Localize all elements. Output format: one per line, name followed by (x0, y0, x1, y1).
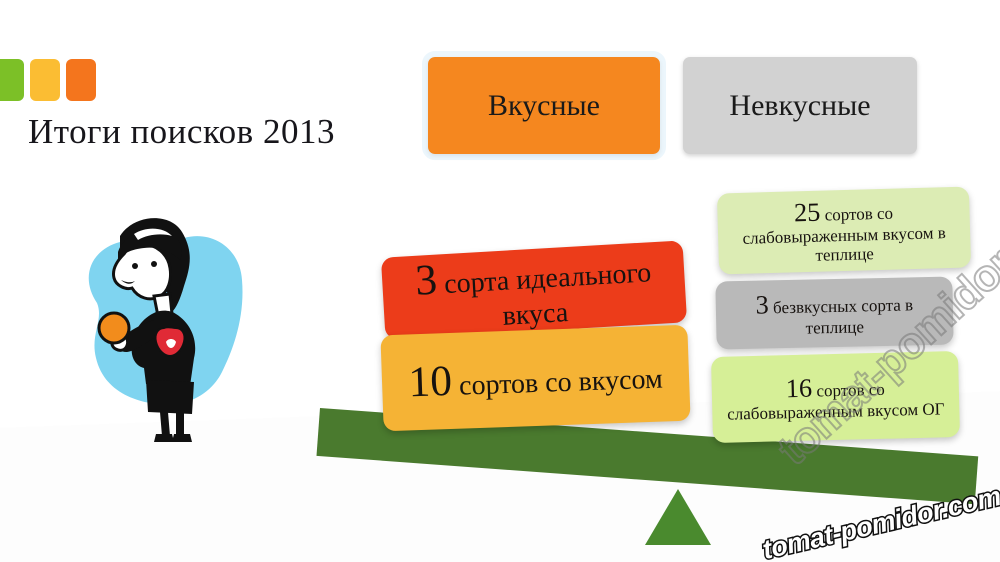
orange-fruit (99, 313, 129, 343)
woman-holding-orange-illustration (72, 208, 262, 448)
card-with-taste-text: сортов со вкусом (452, 363, 664, 401)
card-tasteless-greenhouse-text: безвкусных сорта в теплице (769, 295, 914, 338)
card-ideal-taste[interactable]: 3 сорта идеального вкуса (381, 240, 687, 339)
card-weak-taste-open-ground-text: сортов со слабовыраженным вкусом ОГ (727, 380, 945, 424)
legs-shape (160, 412, 184, 436)
eye-right (151, 261, 157, 267)
card-weak-taste-open-ground[interactable]: 16 сортов со слабовыраженным вкусом ОГ (711, 351, 960, 443)
card-weak-taste-greenhouse-text: сортов со слабовыраженным вкусом в тепли… (742, 203, 946, 265)
logo-square-yellow (30, 59, 60, 101)
tab-tasty[interactable]: Вкусные (428, 57, 660, 154)
card-ideal-taste-number: 3 (414, 256, 438, 305)
card-tasteless-greenhouse[interactable]: 3 безвкусных сорта в теплице (715, 277, 953, 350)
tab-untasty-label: Невкусные (729, 89, 870, 123)
slide-canvas: Итоги поисков 2013 Вкусные Невкусные 3 с… (0, 0, 1000, 562)
page-title: Итоги поисков 2013 (28, 112, 335, 152)
logo-squares (0, 59, 96, 101)
card-with-taste-number: 10 (408, 357, 453, 406)
card-tasteless-greenhouse-number: 3 (755, 290, 769, 319)
card-weak-taste-greenhouse-number: 25 (794, 197, 821, 227)
logo-square-green (0, 59, 24, 101)
card-weak-taste-open-ground-number: 16 (785, 373, 812, 403)
tab-tasty-label: Вкусные (488, 89, 600, 123)
card-with-taste[interactable]: 10 сортов со вкусом (380, 325, 690, 432)
shoes-shape (154, 434, 192, 442)
tab-untasty[interactable]: Невкусные (683, 57, 917, 154)
skirt-shape (146, 380, 194, 414)
balance-fulcrum-triangle (645, 489, 711, 545)
card-ideal-taste-text: сорта идеального вкуса (436, 257, 652, 331)
eye-left (132, 263, 138, 269)
logo-square-orange (66, 59, 96, 101)
card-weak-taste-greenhouse[interactable]: 25 сортов со слабовыраженным вкусом в те… (717, 186, 971, 274)
